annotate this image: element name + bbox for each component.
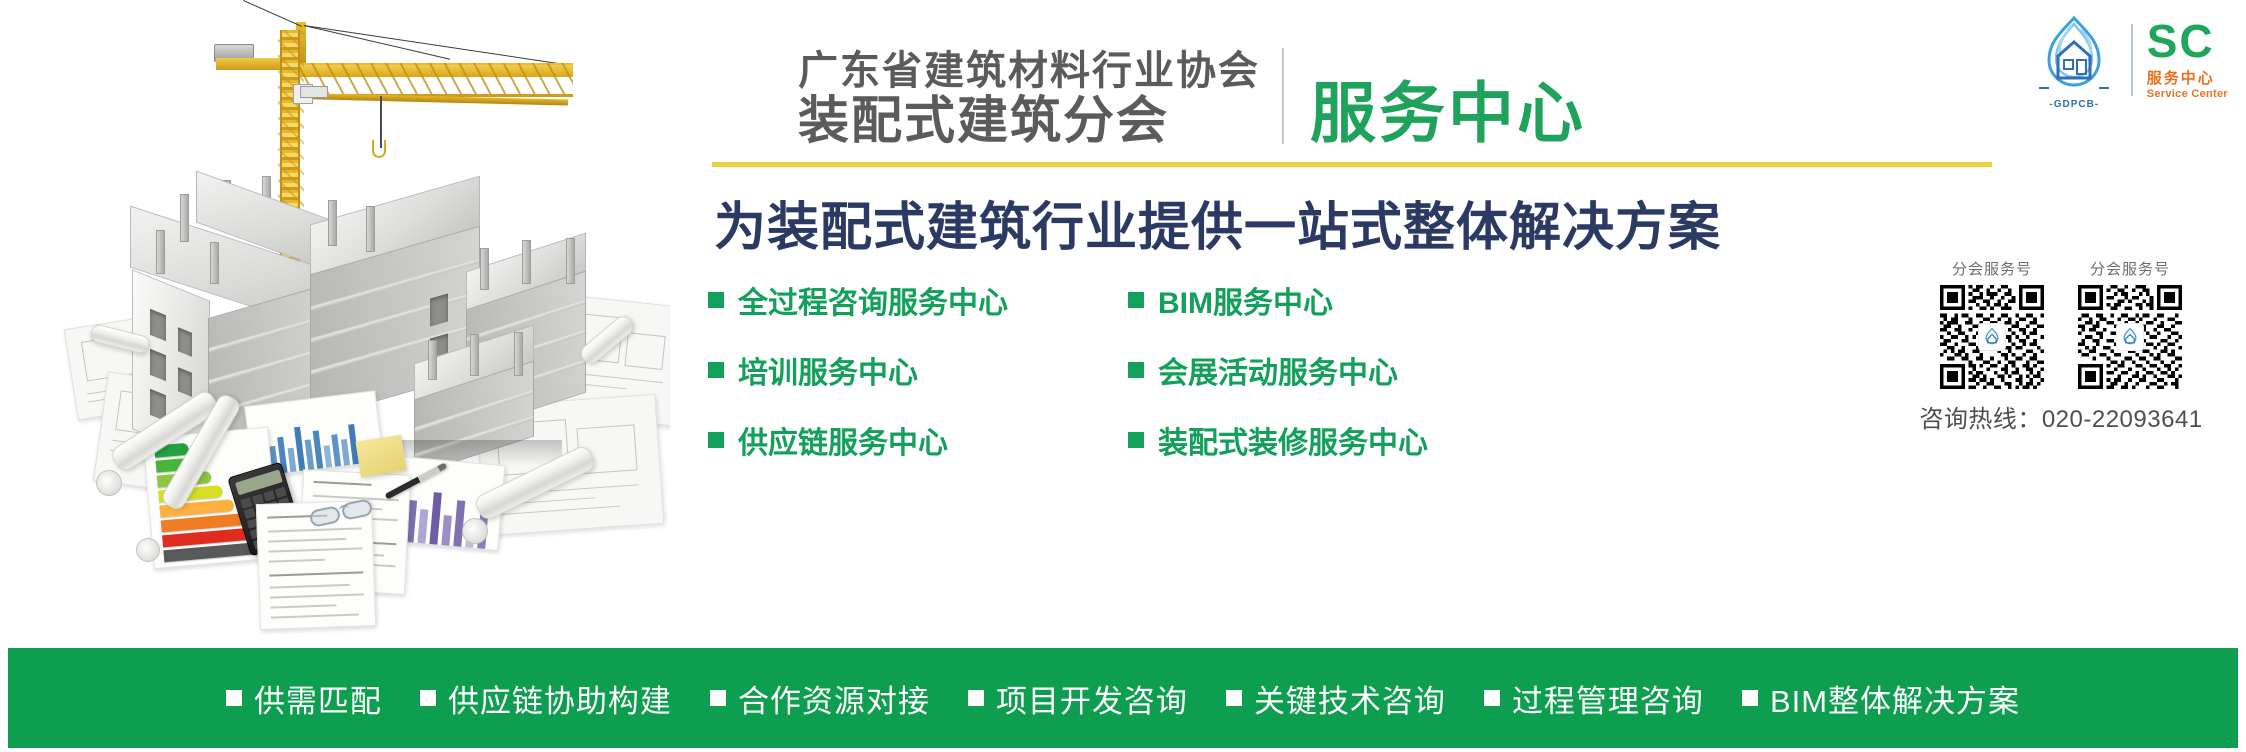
bottom-bar-item-label: BIM整体解决方案: [1770, 676, 2020, 721]
bottom-bar-item-label: 供应链协助构建: [448, 676, 672, 721]
banner-root: -GDPCB- SC 服务中心 Service Center 广东省建筑材料行业…: [0, 0, 2246, 752]
sc-chinese-label: 服务中心: [2147, 67, 2215, 88]
crane-hook-icon: [372, 140, 386, 158]
bottom-bar-item-label: 供需匹配: [254, 676, 382, 721]
branch-name: 装配式建筑分会: [798, 94, 1260, 148]
rolled-drawing-end: [462, 518, 488, 544]
qr-code-image-2[interactable]: [2078, 285, 2182, 389]
sc-initials: SC: [2147, 20, 2215, 64]
bottom-bar-item-label: 项目开发咨询: [996, 676, 1188, 721]
building-window: [178, 327, 192, 357]
service-center-list: 全过程咨询服务中心 培训服务中心 供应链服务中心 BIM服务中心: [708, 278, 1428, 462]
service-column-right: BIM服务中心 会展活动服务中心 装配式装修服务中心: [1128, 278, 1428, 462]
service-item[interactable]: 供应链服务中心: [708, 418, 1008, 462]
bottom-bar-item-label: 过程管理咨询: [1512, 676, 1704, 721]
building-column: [366, 206, 375, 252]
building-column: [470, 334, 479, 376]
content-area: -GDPCB- SC 服务中心 Service Center 广东省建筑材料行业…: [690, 0, 2246, 648]
crane-trolley-icon: [300, 86, 328, 98]
qr-code-label: 分会服务号: [1952, 258, 2032, 279]
qr-code-block: 分会服务号: [1896, 258, 2226, 434]
square-bullet-icon: [710, 690, 726, 706]
bottom-bar-item[interactable]: 合作资源对接: [710, 676, 930, 721]
service-item[interactable]: 培训服务中心: [708, 348, 1008, 392]
bottom-bar-item[interactable]: 项目开发咨询: [968, 676, 1188, 721]
building-column: [156, 230, 165, 274]
service-item-label: BIM服务中心: [1158, 278, 1333, 322]
service-item-label: 培训服务中心: [738, 348, 918, 392]
brand-logo-block: -GDPCB- SC 服务中心 Service Center: [2031, 12, 2228, 108]
service-item-label: 会展活动服务中心: [1158, 348, 1398, 392]
bottom-service-bar: 供需匹配 供应链协助构建 合作资源对接 项目开发咨询 关键技术咨询 过程管理咨询…: [8, 648, 2238, 748]
service-item-label: 装配式装修服务中心: [1158, 418, 1428, 462]
square-bullet-icon: [1128, 292, 1144, 308]
square-bullet-icon: [1742, 690, 1758, 706]
service-item-label: 全过程咨询服务中心: [738, 278, 1008, 322]
header-title-row: 广东省建筑材料行业协会 装配式建筑分会 服务中心: [798, 48, 1586, 148]
service-column-left: 全过程咨询服务中心 培训服务中心 供应链服务中心: [708, 278, 1008, 462]
crane-jib-truss-icon: [298, 63, 573, 97]
square-bullet-icon: [708, 432, 724, 448]
square-bullet-icon: [226, 690, 242, 706]
building-column: [180, 194, 189, 242]
qr-code-image-1[interactable]: [1940, 285, 2044, 389]
building-column: [328, 200, 337, 246]
qr-code-branch-service-1[interactable]: 分会服务号: [1940, 258, 2044, 389]
logo-divider: [2131, 24, 2133, 96]
bottom-bar-item[interactable]: 关键技术咨询: [1226, 676, 1446, 721]
building-window: [430, 293, 448, 326]
gdpcb-wordmark: -GDPCB-: [2031, 99, 2117, 110]
rolled-drawing-end: [96, 470, 122, 496]
service-item[interactable]: 会展活动服务中心: [1128, 348, 1428, 392]
sc-logo-block: SC 服务中心 Service Center: [2147, 20, 2228, 100]
building-column: [210, 242, 219, 284]
qr-code-branch-service-2[interactable]: 分会服务号: [2078, 258, 2182, 389]
service-center-title: 服务中心: [1310, 80, 1586, 148]
square-bullet-icon: [708, 292, 724, 308]
square-bullet-icon: [708, 362, 724, 378]
service-item-label: 供应链服务中心: [738, 418, 948, 462]
service-item[interactable]: 装配式装修服务中心: [1128, 418, 1428, 462]
square-bullet-icon: [1128, 362, 1144, 378]
building-column: [522, 240, 531, 284]
qr-code-label: 分会服务号: [2090, 258, 2170, 279]
square-bullet-icon: [968, 690, 984, 706]
square-bullet-icon: [1226, 690, 1242, 706]
service-item[interactable]: 全过程咨询服务中心: [708, 278, 1008, 322]
title-separator: [1282, 48, 1284, 144]
bottom-bar-item-label: 关键技术咨询: [1254, 676, 1446, 721]
square-bullet-icon: [1128, 432, 1144, 448]
building-window: [178, 367, 192, 397]
bottom-bar-item[interactable]: 供应链协助构建: [420, 676, 672, 721]
bottom-bar-item-label: 合作资源对接: [738, 676, 930, 721]
bottom-bar-item[interactable]: 供需匹配: [226, 676, 382, 721]
building-column: [514, 332, 523, 376]
qr-embedded-logo-icon: [1978, 323, 2006, 351]
square-bullet-icon: [420, 690, 436, 706]
building-column: [428, 340, 437, 380]
yellow-divider-rule: [712, 162, 1992, 167]
construction-3d-render: [10, 0, 670, 640]
association-name: 广东省建筑材料行业协会: [798, 50, 1260, 92]
qr-code-row: 分会服务号: [1896, 258, 2226, 389]
bottom-bar-item[interactable]: BIM整体解决方案: [1742, 676, 2020, 721]
gdpcb-house-flame-logo-icon: -GDPCB-: [2031, 12, 2117, 108]
building-column: [566, 238, 575, 284]
rolled-drawing-end: [136, 538, 160, 562]
service-item[interactable]: BIM服务中心: [1128, 278, 1428, 322]
building-column: [480, 248, 489, 290]
association-names: 广东省建筑材料行业协会 装配式建筑分会: [798, 50, 1260, 148]
main-slogan: 为装配式建筑行业提供一站式整体解决方案: [714, 185, 1721, 260]
bottom-bar-item[interactable]: 过程管理咨询: [1484, 676, 1704, 721]
qr-embedded-logo-icon: [2116, 323, 2144, 351]
sc-english-label: Service Center: [2147, 88, 2228, 100]
square-bullet-icon: [1484, 690, 1500, 706]
hotline-text: 咨询热线：020-22093641: [1896, 399, 2226, 434]
sticky-note: [355, 435, 406, 478]
